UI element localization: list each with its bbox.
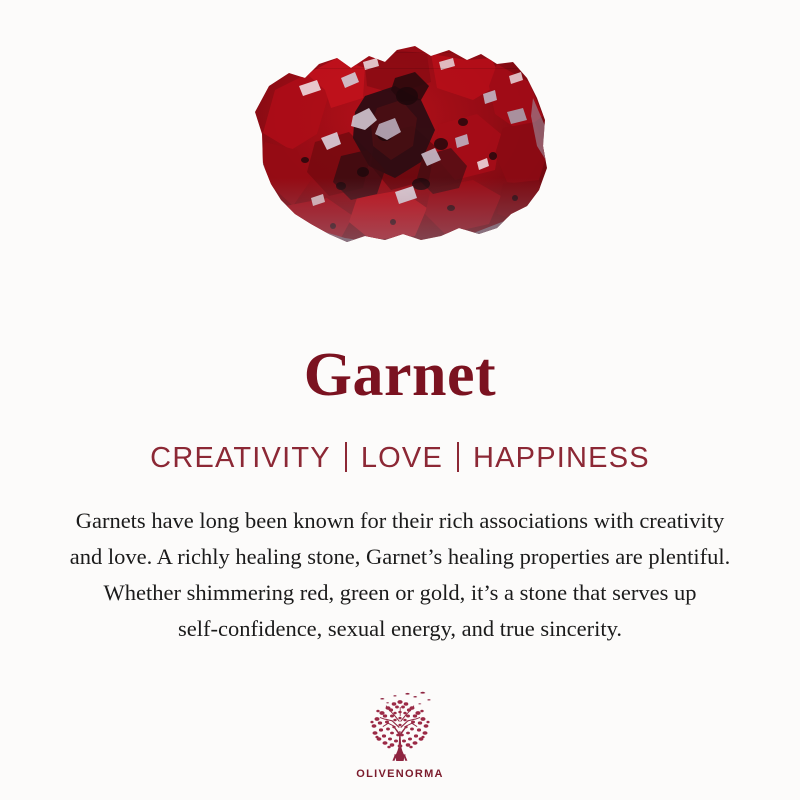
brand-logo: OLIVENORMA [356, 687, 444, 780]
hero-image-area [0, 0, 800, 300]
keyword-creativity: CREATIVITY [150, 444, 331, 473]
keyword-happiness: HAPPINESS [473, 444, 650, 473]
tree-of-life-icon [358, 687, 442, 765]
description-line: and love. A richly healing stone, Garnet… [20, 539, 780, 575]
garnet-crystal-photo [245, 38, 555, 263]
keyword-list: CREATIVITY LOVE HAPPINESS [150, 443, 650, 473]
description-line: self-confidence, sexual energy, and true… [20, 611, 780, 647]
description-line: Whether shimmering red, green or gold, i… [20, 575, 780, 611]
description-text: Garnets have long been known for their r… [20, 503, 780, 647]
gemstone-info-card: Garnet CREATIVITY LOVE HAPPINESS Garnets… [0, 0, 800, 800]
keyword-separator-icon [457, 442, 459, 472]
brand-wordmark: OLIVENORMA [356, 768, 444, 780]
keyword-love: LOVE [361, 444, 443, 473]
description-line: Garnets have long been known for their r… [20, 503, 780, 539]
page-title: Garnet [304, 344, 496, 406]
keyword-separator-icon [345, 442, 347, 472]
